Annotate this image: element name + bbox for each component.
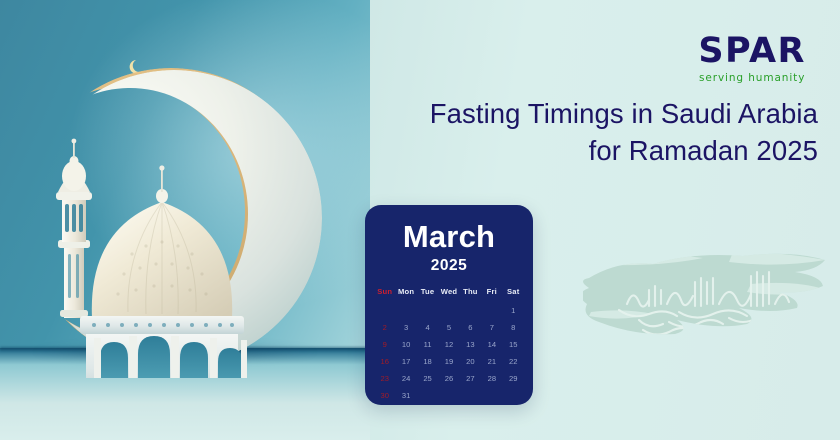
calendar-day-cell[interactable]: 11	[417, 336, 438, 353]
calendar-day-cell[interactable]: 13	[460, 336, 481, 353]
calendar-grid: Sun Mon Tue Wed Thu Fri Sat 1	[374, 287, 524, 404]
page-title: Fasting Timings in Saudi Arabia for Rama…	[358, 96, 818, 169]
ramadan-fasting-timings-banner: SPAR serving humanity Fasting Timings in…	[0, 0, 840, 440]
calendar-week-row: 30 31	[374, 387, 524, 404]
spar-logo[interactable]: SPAR serving humanity	[698, 34, 806, 84]
illustration-scene	[0, 0, 370, 440]
calendar-day-cell[interactable]	[395, 302, 416, 319]
calendar-day-cell[interactable]: 27	[460, 370, 481, 387]
calendar-day-cell[interactable]: 2	[374, 319, 395, 336]
calendar-day-cell[interactable]	[460, 387, 481, 404]
weekday-header-tue: Tue	[417, 287, 438, 302]
logo-tagline: serving humanity	[698, 72, 806, 84]
calendar-day-cell[interactable]: 5	[438, 319, 459, 336]
calendar-day-cell[interactable]: 14	[481, 336, 502, 353]
calendar-day-cell[interactable]	[481, 302, 502, 319]
calendar-weekday-row: Sun Mon Tue Wed Thu Fri Sat	[374, 287, 524, 302]
calendar-day-cell[interactable]: 4	[417, 319, 438, 336]
calendar-day-cell[interactable]	[417, 387, 438, 404]
saudi-arabia-flag-watermark	[583, 248, 828, 376]
calendar-day-cell[interactable]: 21	[481, 353, 502, 370]
headline-line-2: for Ramadan 2025	[358, 133, 818, 170]
calendar-day-cell[interactable]: 24	[395, 370, 416, 387]
calendar-day-cell[interactable]	[481, 387, 502, 404]
calendar-day-cell[interactable]: 16	[374, 353, 395, 370]
calendar-day-cell[interactable]: 18	[417, 353, 438, 370]
calendar-day-cell[interactable]: 29	[503, 370, 524, 387]
calendar-day-cell[interactable]	[503, 387, 524, 404]
calendar-day-cell[interactable]	[460, 302, 481, 319]
calendar-day-cell[interactable]: 7	[481, 319, 502, 336]
calendar-day-cell[interactable]: 10	[395, 336, 416, 353]
weekday-header-mon: Mon	[395, 287, 416, 302]
calendar-day-cell[interactable]: 12	[438, 336, 459, 353]
weekday-header-thu: Thu	[460, 287, 481, 302]
calendar-day-cell[interactable]: 25	[417, 370, 438, 387]
calendar-day-cell[interactable]: 19	[438, 353, 459, 370]
calendar-day-cell[interactable]: 8	[503, 319, 524, 336]
calendar-day-cell[interactable]: 3	[395, 319, 416, 336]
calendar-day-cell[interactable]: 26	[438, 370, 459, 387]
calendar-day-cell[interactable]: 17	[395, 353, 416, 370]
headline-line-1: Fasting Timings in Saudi Arabia	[430, 98, 818, 129]
calendar-week-row: 1	[374, 302, 524, 319]
calendar-day-cell[interactable]	[374, 302, 395, 319]
logo-wordmark: SPAR	[698, 34, 806, 69]
calendar-day-cell[interactable]: 9	[374, 336, 395, 353]
calendar-day-cell[interactable]: 15	[503, 336, 524, 353]
calendar-day-cell[interactable]: 6	[460, 319, 481, 336]
calendar-week-row: 23 24 25 26 27 28 29	[374, 370, 524, 387]
crescent-moon-with-mosque	[12, 58, 342, 378]
calendar-day-cell[interactable]: 20	[460, 353, 481, 370]
calendar-day-cell[interactable]: 30	[374, 387, 395, 404]
calendar-day-cell[interactable]	[438, 387, 459, 404]
weekday-header-sat: Sat	[503, 287, 524, 302]
calendar-day-cell[interactable]: 31	[395, 387, 416, 404]
weekday-header-fri: Fri	[481, 287, 502, 302]
mosque-base	[80, 316, 247, 378]
calendar-week-row: 9 10 11 12 13 14 15	[374, 336, 524, 353]
calendar-day-cell[interactable]: 22	[503, 353, 524, 370]
calendar-day-cell[interactable]: 1	[503, 302, 524, 319]
weekday-header-sun: Sun	[374, 287, 395, 302]
weekday-header-wed: Wed	[438, 287, 459, 302]
march-2025-calendar: March 2025 Sun Mon Tue Wed Thu Fri Sat	[365, 205, 533, 405]
calendar-week-row: 2 3 4 5 6 7 8	[374, 319, 524, 336]
calendar-month-label: March	[365, 205, 533, 254]
calendar-day-cell[interactable]	[438, 302, 459, 319]
calendar-day-cell[interactable]: 28	[481, 370, 502, 387]
calendar-year-label: 2025	[365, 257, 533, 275]
calendar-week-row: 16 17 18 19 20 21 22	[374, 353, 524, 370]
calendar-day-cell[interactable]: 23	[374, 370, 395, 387]
calendar-day-cell[interactable]	[417, 302, 438, 319]
